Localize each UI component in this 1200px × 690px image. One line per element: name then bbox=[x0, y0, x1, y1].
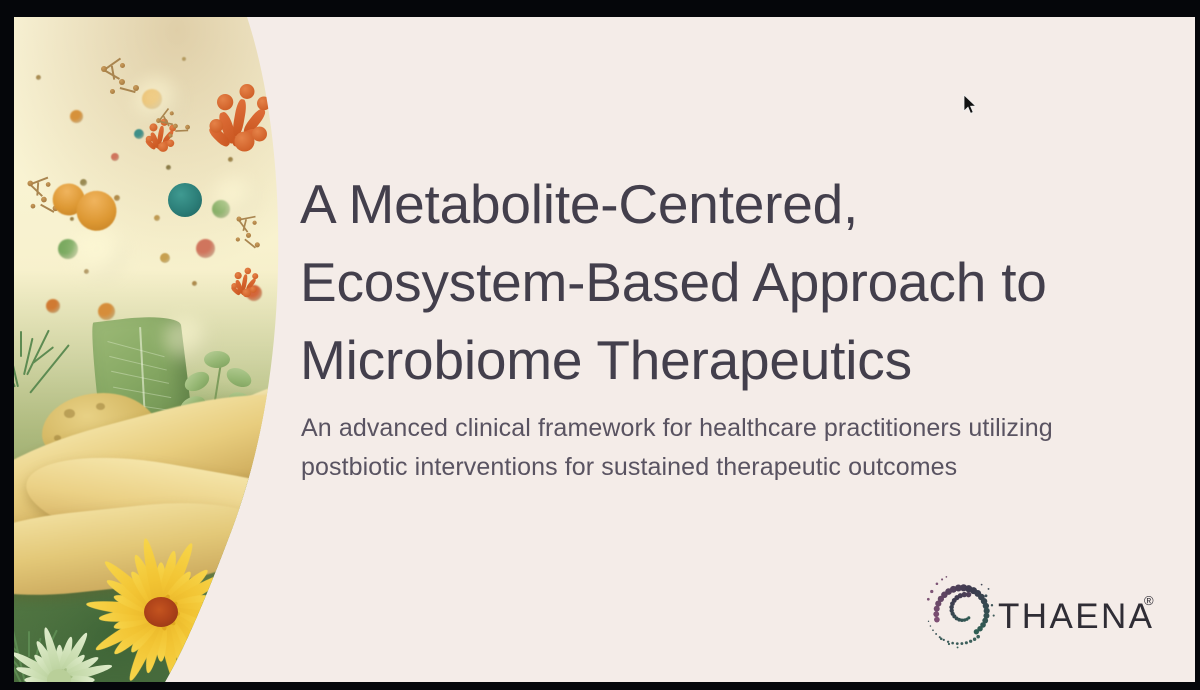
leaf-rib bbox=[107, 341, 164, 357]
grass-blade bbox=[20, 331, 22, 357]
thaena-logo: THAENA ® bbox=[918, 570, 1170, 656]
thaena-spiral-svg bbox=[918, 570, 1004, 656]
virus-microbe bbox=[162, 177, 208, 223]
microbe-dot bbox=[98, 303, 115, 320]
molecule-atom bbox=[245, 232, 252, 239]
thaena-spiral-icon bbox=[918, 570, 1004, 656]
light-haze bbox=[214, 177, 254, 217]
logo-dot bbox=[951, 642, 954, 645]
microbe-dot bbox=[154, 215, 160, 221]
pale-flower bbox=[14, 625, 114, 682]
logo-dot bbox=[957, 646, 959, 648]
molecule-node bbox=[245, 268, 252, 275]
logo-dot bbox=[928, 621, 929, 622]
logo-dot bbox=[930, 590, 933, 593]
leaf-rib bbox=[109, 356, 167, 371]
molecule-node bbox=[252, 127, 267, 142]
presentation-slide: A Metabolite-Centered, Ecosystem-Based A… bbox=[14, 17, 1195, 682]
page-subtitle: An advanced clinical framework for healt… bbox=[301, 409, 1151, 487]
logo-dot bbox=[991, 604, 993, 606]
microbe-dot bbox=[192, 281, 197, 286]
thaena-wordmark: THAENA bbox=[998, 597, 1154, 637]
logo-dot bbox=[993, 615, 995, 617]
title-line-3: Microbiome Therapeutics bbox=[300, 321, 1180, 399]
grass-frond bbox=[14, 317, 68, 387]
logo-dot bbox=[965, 641, 968, 644]
molecule-atom bbox=[40, 196, 47, 203]
logo-dot bbox=[935, 633, 937, 635]
flower-core bbox=[144, 597, 178, 627]
leaf-rib bbox=[111, 371, 169, 384]
microbe-dot bbox=[196, 239, 215, 258]
molecule-node bbox=[146, 136, 153, 143]
molecule-node bbox=[217, 94, 233, 110]
page-title: A Metabolite-Centered, Ecosystem-Based A… bbox=[300, 165, 1180, 399]
molecule-node bbox=[235, 272, 242, 279]
microbe-dot bbox=[111, 153, 119, 161]
logo-dot bbox=[927, 598, 930, 601]
stick-molecule bbox=[100, 63, 134, 93]
logo-dot bbox=[940, 638, 943, 641]
villi-pore bbox=[64, 409, 75, 418]
molecule-node bbox=[240, 84, 255, 99]
logo-dot bbox=[976, 635, 980, 639]
villi-pore bbox=[96, 403, 105, 410]
grass-blade bbox=[14, 326, 19, 387]
molecule-atom bbox=[156, 118, 162, 124]
molecule-atom bbox=[119, 79, 125, 85]
logo-dot bbox=[934, 606, 940, 612]
logo-dot bbox=[932, 629, 934, 631]
title-line-2: Ecosystem-Based Approach to bbox=[300, 243, 1180, 321]
logo-dot bbox=[948, 643, 950, 645]
registered-trademark-symbol: ® bbox=[1144, 593, 1154, 608]
molecule-atom bbox=[45, 182, 51, 188]
logo-dot bbox=[933, 611, 939, 617]
molecule-node bbox=[167, 140, 174, 147]
logo-dot bbox=[943, 639, 945, 641]
logo-dot bbox=[947, 641, 949, 643]
logo-dot bbox=[973, 638, 976, 641]
sprig-leaf bbox=[204, 351, 230, 368]
logo-dot bbox=[969, 640, 972, 643]
logo-dot bbox=[974, 629, 979, 634]
molecule-node bbox=[257, 97, 271, 111]
molecule-bond bbox=[111, 66, 115, 80]
molecule-atom bbox=[101, 66, 107, 72]
screen-letterbox: A Metabolite-Centered, Ecosystem-Based A… bbox=[0, 0, 1200, 690]
sprig-leaf bbox=[182, 368, 213, 395]
logo-dot bbox=[981, 584, 983, 586]
logo-dot bbox=[956, 642, 959, 645]
molecule-atom bbox=[120, 63, 125, 68]
branching-molecule bbox=[202, 69, 286, 178]
logo-dot bbox=[984, 594, 987, 597]
molecule-atom bbox=[252, 220, 258, 226]
logo-dot bbox=[946, 576, 948, 578]
logo-dot bbox=[988, 588, 990, 590]
molecule-node bbox=[210, 119, 224, 133]
microbe-dot bbox=[182, 57, 186, 61]
slide-content: A Metabolite-Centered, Ecosystem-Based A… bbox=[300, 17, 1195, 682]
molecule-node bbox=[231, 283, 237, 289]
molecule-atom bbox=[172, 123, 178, 129]
logo-dot bbox=[967, 616, 970, 619]
virus-body bbox=[168, 183, 202, 217]
logo-dot bbox=[936, 582, 939, 585]
molecule-atom bbox=[169, 111, 174, 116]
title-line-1: A Metabolite-Centered, bbox=[300, 165, 1180, 243]
microbe-dot bbox=[166, 165, 171, 170]
branching-molecule bbox=[228, 261, 246, 282]
grass-blade bbox=[29, 344, 70, 393]
logo-dot bbox=[941, 578, 943, 580]
microbe-dot bbox=[70, 110, 83, 123]
microbe-dot bbox=[160, 253, 170, 263]
microbe-dot bbox=[36, 75, 41, 80]
molecule-node bbox=[250, 286, 257, 293]
sprig-leaf bbox=[224, 364, 255, 391]
logo-dot bbox=[960, 642, 963, 645]
molecule-node bbox=[252, 273, 258, 279]
light-haze bbox=[164, 317, 208, 361]
microbe-dot bbox=[46, 299, 60, 313]
logo-dot bbox=[934, 617, 940, 623]
microbiome-illustration bbox=[14, 17, 286, 682]
molecule-atom bbox=[133, 85, 139, 91]
molecule-atom bbox=[110, 89, 115, 94]
logo-dot bbox=[930, 625, 932, 627]
